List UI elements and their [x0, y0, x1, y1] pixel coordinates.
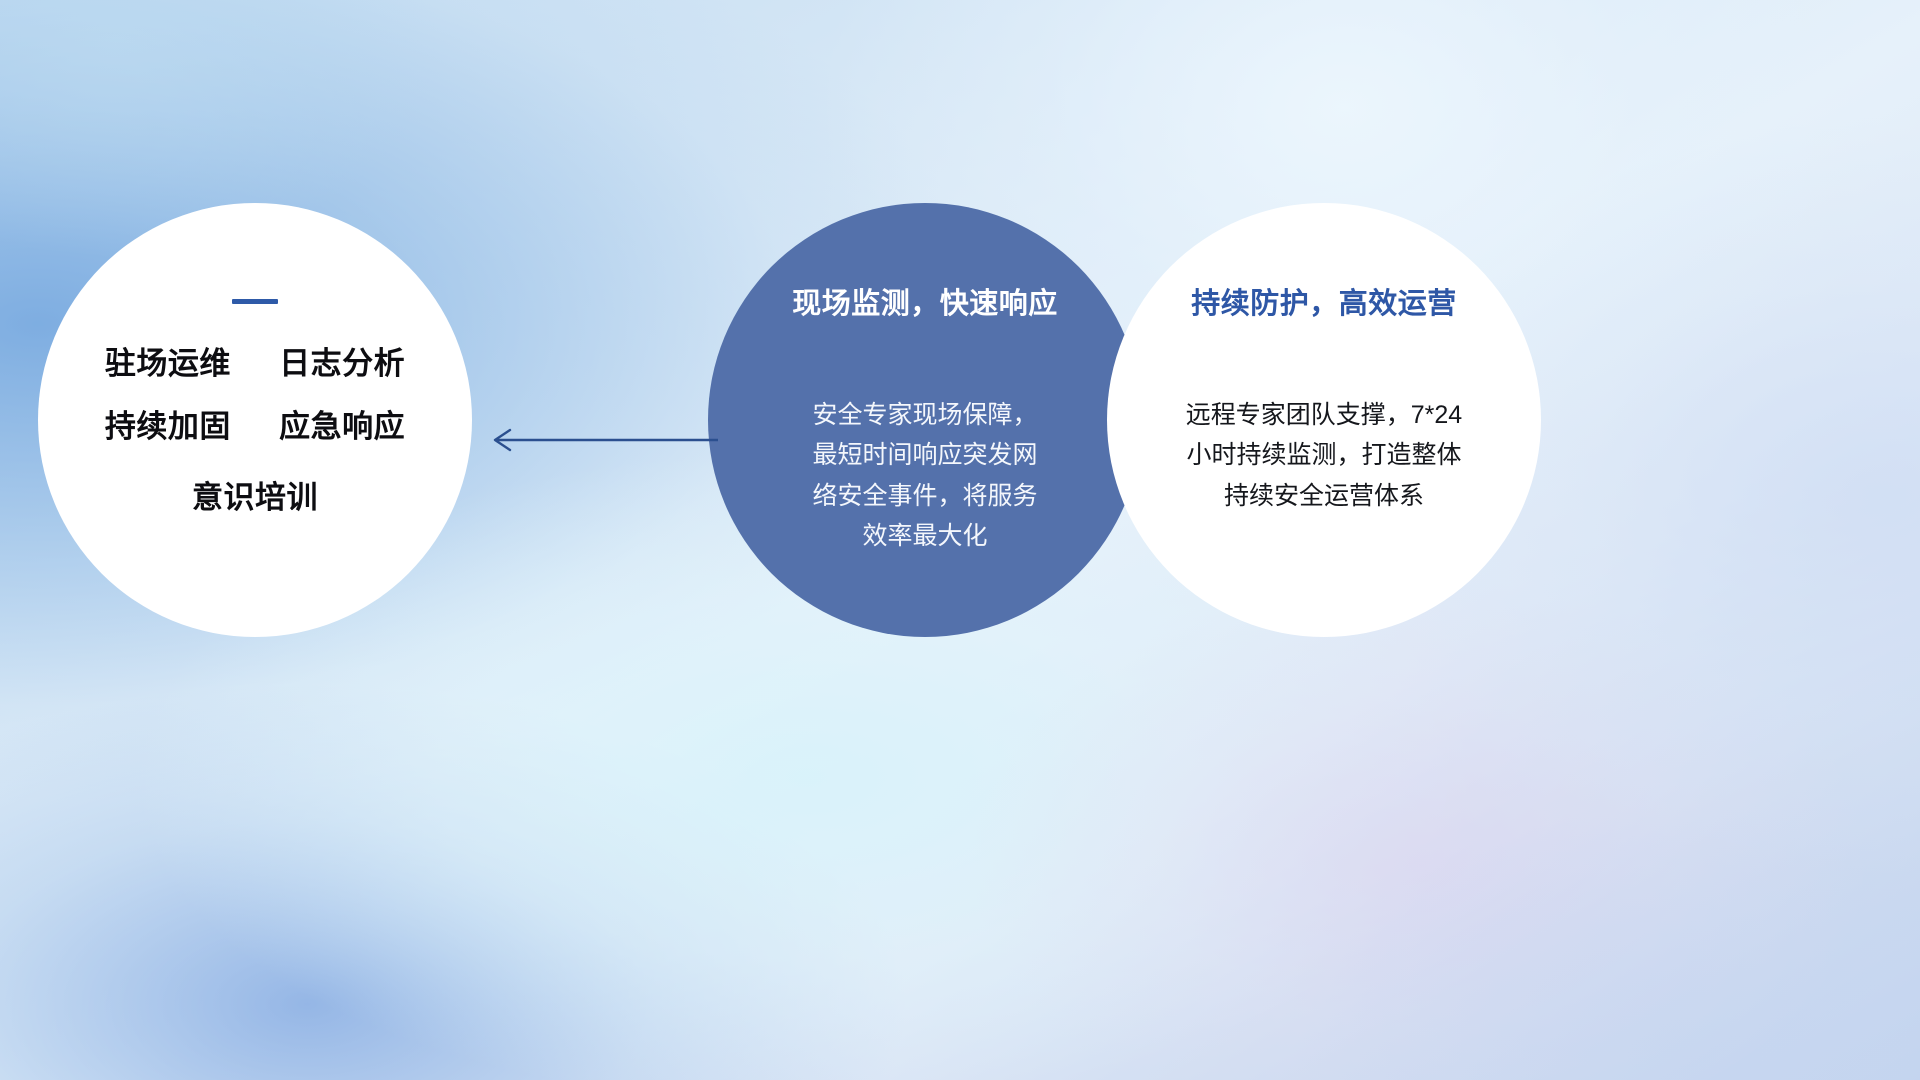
body-line: 持续安全运营体系 — [1107, 476, 1541, 517]
capability-row: 驻场运维 日志分析 — [38, 348, 472, 379]
capability-tag: 意识培训 — [192, 480, 318, 515]
capability-tag: 日志分析 — [279, 346, 405, 381]
body-line: 络安全事件，将服务 — [708, 476, 1142, 517]
body-line: 效率最大化 — [708, 516, 1142, 557]
continuous-protection-content: 持续防护，高效运营 远程专家团队支撑，7*24 小时持续监测，打造整体 持续安全… — [1107, 289, 1541, 516]
accent-rule-icon — [232, 299, 278, 304]
body-line: 最短时间响应突发网 — [708, 435, 1142, 476]
onsite-monitoring-body: 安全专家现场保障， 最短时间响应突发网 络安全事件，将服务 效率最大化 — [708, 395, 1142, 557]
continuous-protection-title: 持续防护，高效运营 — [1107, 289, 1541, 321]
capability-tag: 应急响应 — [279, 409, 405, 444]
continuous-protection-circle[interactable]: 持续防护，高效运营 远程专家团队支撑，7*24 小时持续监测，打造整体 持续安全… — [1107, 203, 1541, 637]
continuous-protection-body: 远程专家团队支撑，7*24 小时持续监测，打造整体 持续安全运营体系 — [1107, 395, 1541, 517]
capability-row: 意识培训 — [38, 482, 472, 513]
on-site-operations-circle[interactable]: 驻场运维 日志分析 持续加固 应急响应 意识培训 — [38, 203, 472, 637]
capability-row: 持续加固 应急响应 — [38, 411, 472, 442]
body-line: 安全专家现场保障， — [708, 395, 1142, 436]
capability-tag: 持续加固 — [105, 409, 231, 444]
onsite-monitoring-content: 现场监测，快速响应 安全专家现场保障， 最短时间响应突发网 络安全事件，将服务 … — [708, 289, 1142, 557]
slide-canvas: 驻场运维 日志分析 持续加固 应急响应 意识培训 现场监测，快速响应 安全专家现… — [0, 0, 1920, 1080]
body-line: 小时持续监测，打造整体 — [1107, 435, 1541, 476]
capability-tag: 驻场运维 — [105, 346, 231, 381]
onsite-monitoring-circle[interactable]: 现场监测，快速响应 安全专家现场保障， 最短时间响应突发网 络安全事件，将服务 … — [708, 203, 1142, 637]
on-site-operations-content: 驻场运维 日志分析 持续加固 应急响应 意识培训 — [38, 299, 472, 513]
onsite-monitoring-title: 现场监测，快速响应 — [708, 289, 1142, 321]
body-line: 远程专家团队支撑，7*24 — [1107, 395, 1541, 436]
left-pointing-arrow-icon — [480, 410, 720, 470]
